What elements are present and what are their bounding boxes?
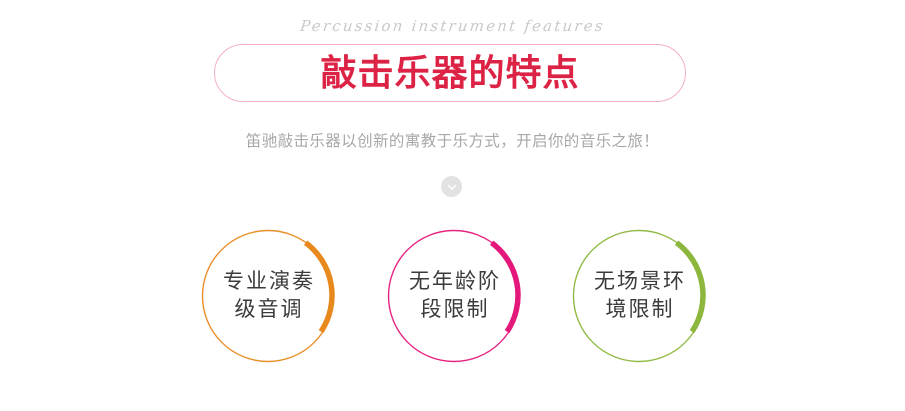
feature-label-line2: 境限制 xyxy=(604,296,675,324)
feature-label-line1: 无年龄阶 xyxy=(407,268,501,296)
feature-label-line2: 段限制 xyxy=(419,296,490,324)
page-subtitle: 笛驰敲击乐器以创新的寓教于乐方式，开启你的音乐之旅！ xyxy=(0,129,905,151)
feature-label-line1: 无场景环 xyxy=(592,268,686,296)
feature-label: 无年龄阶 段限制 xyxy=(386,228,522,364)
page-title: 敲击乐器的特点 xyxy=(320,55,579,91)
chevron-down-icon xyxy=(446,181,458,193)
feature-circle-item[interactable]: 无年龄阶 段限制 xyxy=(386,228,522,364)
feature-label: 专业演奏 级音调 xyxy=(200,228,336,364)
feature-circle-item[interactable]: 无场景环 境限制 xyxy=(571,228,707,364)
promo-banner: Percussion instrument features 敲击乐器的特点 笛… xyxy=(0,0,905,411)
feature-circle-item[interactable]: 专业演奏 级音调 xyxy=(200,228,336,364)
feature-label-line2: 级音调 xyxy=(233,296,304,324)
feature-label: 无场景环 境限制 xyxy=(571,228,707,364)
eyebrow-script-text: Percussion instrument features xyxy=(0,17,905,35)
feature-circle-list: 专业演奏 级音调 无年龄阶 段限制 无场景环 境限制 xyxy=(0,228,905,373)
feature-label-line1: 专业演奏 xyxy=(221,268,315,296)
scroll-down-button[interactable] xyxy=(441,176,462,197)
title-pill: 敲击乐器的特点 xyxy=(214,44,686,102)
